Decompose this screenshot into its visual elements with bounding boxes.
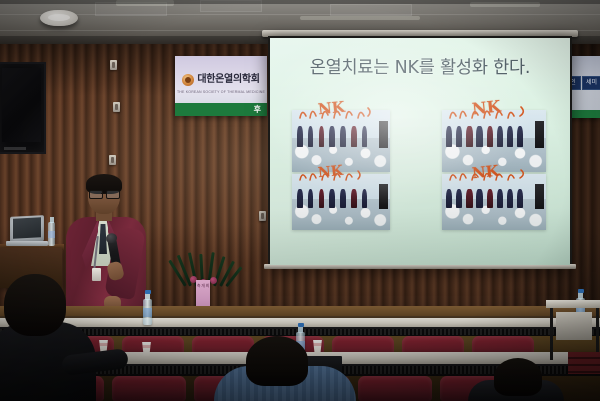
banner-green-strip: 후 [175, 103, 267, 116]
wall-switch-plate-4[interactable] [113, 102, 120, 112]
banner-footer-text: 후 [254, 104, 261, 115]
wall-switch-plate-1[interactable] [109, 155, 116, 165]
slide-photo-top-right [442, 110, 546, 172]
audience-left-head [4, 274, 66, 336]
side-equipment-table [546, 300, 600, 308]
smoke-detector-icon [40, 10, 78, 26]
wall-switch-plate-3[interactable] [110, 60, 117, 70]
audience-center-head [246, 336, 308, 386]
wall-monitor [0, 62, 46, 154]
seat-lower-2 [112, 376, 186, 401]
society-logo-icon [182, 74, 194, 86]
side-table-leg-left [550, 308, 553, 360]
society-banner: 대한온열의학회 THE KOREAN SOCIETY OF THERMAL ME… [175, 56, 267, 116]
slide-photo-bottom-left [292, 174, 390, 230]
slide-photo-bottom-right [442, 174, 546, 230]
secondary-banner-tag-right: 세미 [583, 77, 600, 89]
lecture-hall-photo: 대한온열의학회 THE KOREAN SOCIETY OF THERMAL ME… [0, 0, 600, 401]
flower-ribbon-text: 축 개 최 [196, 283, 210, 288]
stacked-books [568, 352, 600, 374]
side-table-equipment [556, 312, 592, 340]
presenter-laptop[interactable] [6, 216, 46, 246]
glasses-icon [89, 190, 120, 197]
wall-switch-plate-2[interactable] [259, 211, 266, 221]
audience-right-head [494, 358, 542, 396]
projection-screen: 온열치료는 NK를 활성화 한다. NK [270, 38, 570, 265]
water-bottle-upper-1 [143, 299, 152, 325]
podium-water-bottle [48, 222, 55, 246]
society-banner-subtitle: THE KOREAN SOCIETY OF THERMAL MEDICINE [175, 90, 267, 94]
slide-title: 온열치료는 NK를 활성화 한다. [270, 54, 570, 79]
slide-photo-top-left [292, 110, 390, 172]
seat-lower-5 [358, 376, 432, 401]
presenter-name-badge [92, 268, 101, 281]
society-banner-title: 대한온열의학회 [197, 75, 259, 85]
